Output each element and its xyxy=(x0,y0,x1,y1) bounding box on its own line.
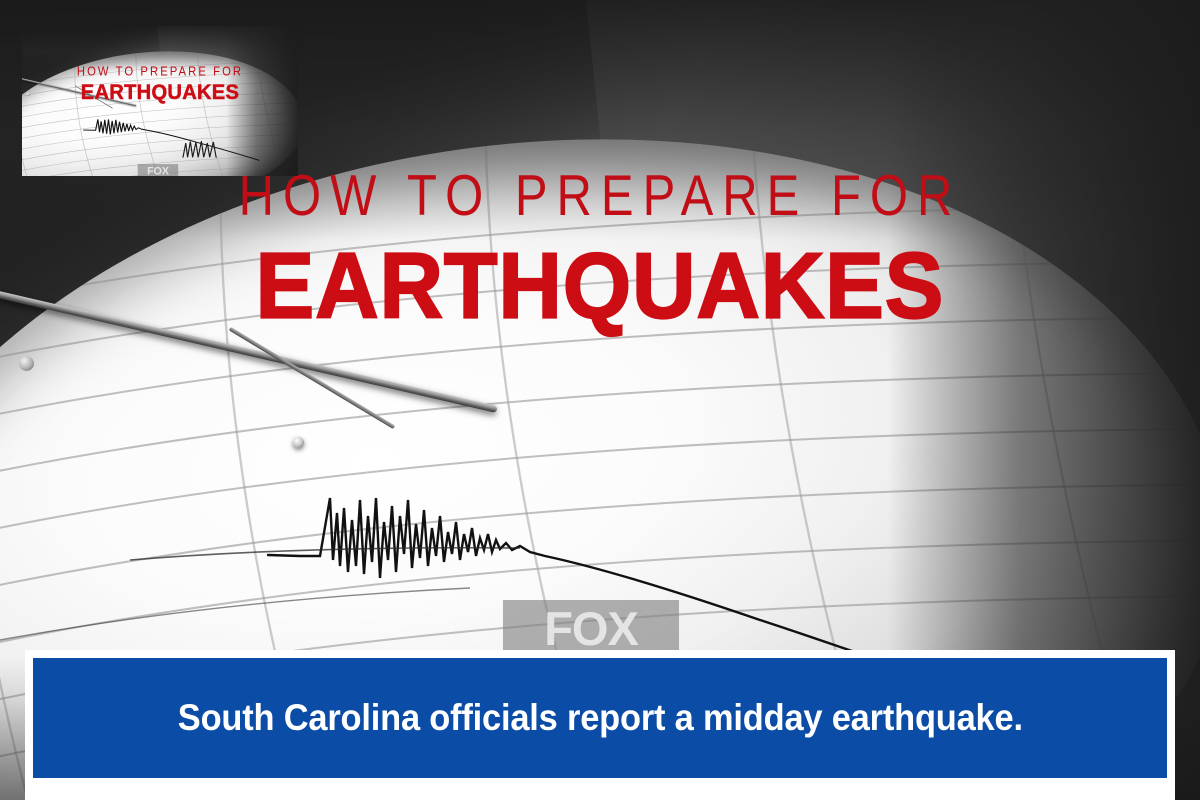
thumbnail-inset-content: HOW TO PREPARE FOR EARTHQUAKES FOX CAROL… xyxy=(22,26,298,176)
thumbnail-watermark-fox-label: FOX xyxy=(147,164,169,176)
caption-text: South Carolina officials report a midday… xyxy=(177,697,1022,739)
thumbnail-background-photo xyxy=(22,26,298,176)
caption-bar: South Carolina officials report a midday… xyxy=(33,658,1167,778)
thumbnail-fox-carolina-watermark: FOX CAROLINA xyxy=(138,164,178,176)
caption-frame: South Carolina officials report a midday… xyxy=(25,650,1175,800)
seismograph-stylus-tip xyxy=(293,437,304,448)
graphic-canvas: HOW TO PREPARE FOR EARTHQUAKES FOX CAROL… xyxy=(0,0,1200,800)
thumbnail-right-vignette xyxy=(226,26,298,176)
watermark-fox-label: FOX xyxy=(544,600,638,652)
thumbnail-inset[interactable]: HOW TO PREPARE FOR EARTHQUAKES FOX CAROL… xyxy=(22,26,298,176)
